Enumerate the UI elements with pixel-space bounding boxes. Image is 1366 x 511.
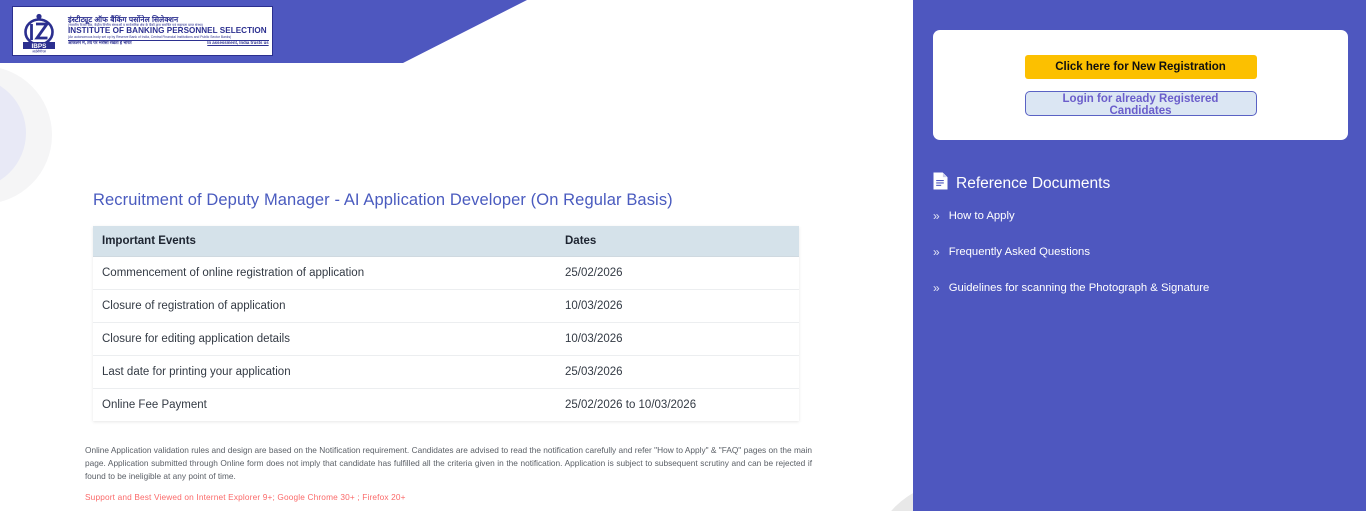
table-header-row: Important Events Dates	[93, 226, 799, 257]
logo-acronym-hindi: आईबीपीएस	[32, 49, 47, 53]
decorative-circle-bottom-right	[872, 483, 913, 511]
double-chevron-right-icon: »	[933, 210, 940, 222]
table-row: Commencement of online registration of a…	[93, 257, 799, 290]
document-icon	[933, 172, 948, 195]
event-name: Online Fee Payment	[93, 389, 556, 422]
double-chevron-right-icon: »	[933, 246, 940, 258]
table-row: Online Fee Payment 25/02/2026 to 10/03/2…	[93, 389, 799, 422]
logo-english-sub: (An autonomous body set up by Reserve Ba…	[68, 36, 269, 39]
new-registration-button[interactable]: Click here for New Registration	[1025, 55, 1257, 79]
table-row: Closure of registration of application 1…	[93, 290, 799, 323]
column-header-dates: Dates	[556, 226, 799, 257]
double-chevron-right-icon: »	[933, 282, 940, 294]
logo-english-main: INSTITUTE OF BANKING PERSONNEL SELECTION	[68, 27, 267, 35]
logo-tagline-hindi: आंकलन में, तय पर भरोसा रखता है भारत	[68, 41, 132, 45]
column-header-events: Important Events	[93, 226, 556, 257]
ibps-logo: IBPS आईबीपीएस इंस्टीट्यूट ऑफ बैंकिंग पर्…	[12, 6, 273, 56]
browser-support-note: Support and Best Viewed on Internet Expl…	[85, 492, 406, 502]
event-date: 25/03/2026	[556, 356, 799, 389]
event-date: 10/03/2026	[556, 323, 799, 356]
reference-link-faq[interactable]: » Frequently Asked Questions	[933, 246, 1090, 258]
event-name: Last date for printing your application	[93, 356, 556, 389]
reference-documents-header: Reference Documents	[933, 172, 1110, 195]
reference-link-photo-signature-guidelines[interactable]: » Guidelines for scanning the Photograph…	[933, 282, 1209, 294]
logo-text-block: इंस्टीट्यूट ऑफ बैंकिंग पर्सोनेल सिलेक्शन…	[63, 16, 269, 46]
reference-link-label: Frequently Asked Questions	[949, 246, 1090, 258]
logo-tagline-english: In assessment, India trusts us	[207, 41, 268, 45]
event-date: 10/03/2026	[556, 290, 799, 323]
event-name: Closure for editing application details	[93, 323, 556, 356]
reference-documents-title: Reference Documents	[956, 175, 1110, 193]
registration-card: Click here for New Registration Login fo…	[933, 30, 1348, 140]
disclaimer-text: Online Application validation rules and …	[85, 444, 812, 483]
event-date: 25/02/2026 to 10/03/2026	[556, 389, 799, 422]
event-name: Closure of registration of application	[93, 290, 556, 323]
reference-link-label: Guidelines for scanning the Photograph &…	[949, 282, 1210, 294]
logo-tagline-row: आंकलन में, तय पर भरोसा रखता है भारत In a…	[68, 40, 269, 46]
reference-link-label: How to Apply	[949, 210, 1015, 222]
important-events-table: Important Events Dates Commencement of o…	[93, 226, 799, 421]
table-row: Last date for printing your application …	[93, 356, 799, 389]
login-registered-button[interactable]: Login for already Registered Candidates	[1025, 91, 1257, 116]
ibps-monogram-icon: IBPS आईबीपीएस	[17, 9, 63, 53]
table-row: Closure for editing application details …	[93, 323, 799, 356]
table-body: Commencement of online registration of a…	[93, 257, 799, 422]
reference-link-how-to-apply[interactable]: » How to Apply	[933, 210, 1015, 222]
event-date: 25/02/2026	[556, 257, 799, 290]
page-title: Recruitment of Deputy Manager - AI Appli…	[93, 191, 673, 210]
event-name: Commencement of online registration of a…	[93, 257, 556, 290]
